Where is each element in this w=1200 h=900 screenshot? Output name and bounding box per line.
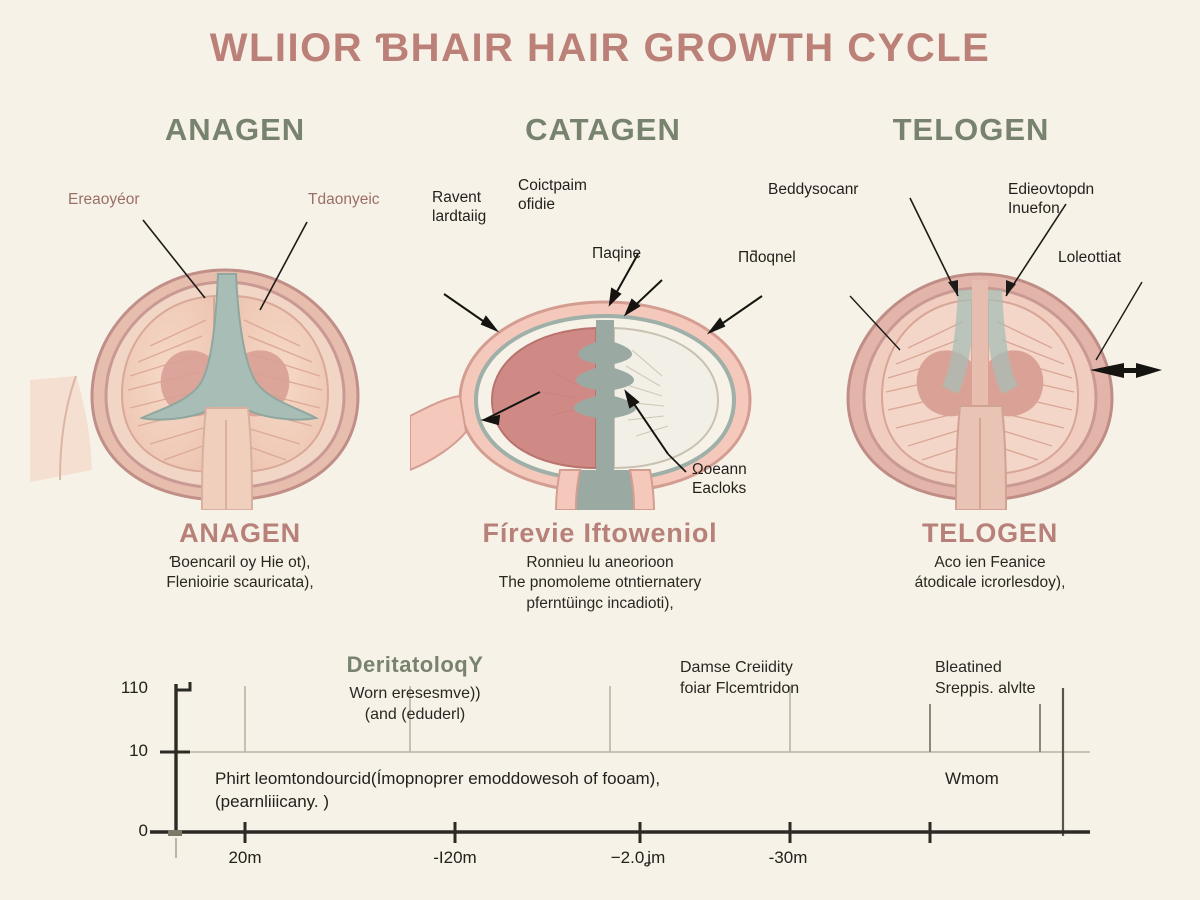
page-title: WLIIOR ƁHAIR HAIR GROWTH CYCLE	[0, 26, 1200, 71]
callout-label-catagen-3: Πaqine	[592, 244, 641, 263]
chart-region: DeritatoloqY Worn eresesmve)) (and (edud…	[0, 640, 1200, 900]
follicle-illustration-telogen	[790, 170, 1180, 510]
diagram-panel-anagen: Ereaoyéor Tdaonyeic	[30, 170, 420, 510]
callout-label-anagen-2: Tdaonyeic	[308, 190, 380, 209]
callout-label-catagen-2: Coictpaim ofidie	[518, 176, 587, 215]
callout-label-telogen-1: Beddysocanr	[768, 180, 858, 199]
caption-body-anagen: Ɓoencaril oy Hіe ot), Flenioirie scauric…	[40, 553, 440, 594]
y-tick-label-2: 0	[88, 821, 148, 841]
caption-telogen: TELOGEN Aco ien Feanice átodicale icrorl…	[790, 518, 1190, 594]
y-tick-label-0: 110	[88, 678, 148, 698]
caption-title-catagen: Fíreviе Iftoweniol	[400, 518, 800, 549]
stage-heading-anagen: ANAGEN	[100, 112, 370, 148]
x-tick-label-3: -30m	[733, 848, 843, 868]
callout-label-telogen-3: Πƌoqnel	[738, 248, 796, 267]
callout-label-catagen-4: Ωoeann Eacloks	[692, 460, 747, 499]
caption-body-telogen: Aco ien Feanice átodicale icrorlesdoy),	[790, 553, 1190, 594]
caption-title-telogen: TELOGEN	[790, 518, 1190, 549]
chart-annotation-2: Bleatined Sreppis. alvlte	[935, 658, 1145, 700]
diagram-panel-catagen: Ravent lardtaiig Coictpaim ofidie Πaqine…	[410, 170, 800, 510]
chart-annotation-1: Damse Creiidity foiar Flcemtridon	[680, 658, 890, 700]
diagram-panel-telogen: Beddysocanr Edieovtopdn Inuefon Πƌoqnel …	[790, 170, 1180, 510]
stage-heading-telogen: TELOGEN	[836, 112, 1106, 148]
x-tick-label-1: -I20m	[400, 848, 510, 868]
chart-body-text: Phirt leomtondourcid(Ímopnoprer emoddowe…	[215, 768, 975, 814]
callout-label-anagen-1: Ereaoyéor	[68, 190, 140, 209]
caption-title-anagen: ANAGEN	[40, 518, 440, 549]
caption-anagen: ANAGEN Ɓoencaril oy Hіe ot), Flenioirie …	[40, 518, 440, 594]
chart-body-text-right: Wmom	[945, 768, 1105, 791]
poster-root: WLIIOR ƁHAIR HAIR GROWTH CYCLE ANAGEN CA…	[0, 0, 1200, 900]
follicle-illustration-anagen	[30, 170, 420, 510]
caption-body-catagen: Ronnieu lu aneorioon The pnomoleme otnti…	[400, 553, 800, 614]
stage-heading-catagen: CATAGEN	[468, 112, 738, 148]
x-tick-label-0: 20m	[190, 848, 300, 868]
x-tick-label-2: −2.0ʝm	[583, 848, 693, 868]
caption-catagen: Fíreviе Iftoweniol Ronnieu lu aneorioon …	[400, 518, 800, 614]
chart-title: DeritatoloqY	[250, 652, 580, 678]
callout-label-telogen-4: Loleottiat	[1058, 248, 1121, 267]
y-tick-label-1: 10	[88, 741, 148, 761]
chart-subtitle: Worn eresesmve)) (and (eduderl)	[250, 684, 580, 726]
callout-label-telogen-2: Edieovtopdn Inuefon	[1008, 180, 1094, 219]
callout-label-catagen-1: Ravent lardtaiig	[432, 188, 486, 227]
